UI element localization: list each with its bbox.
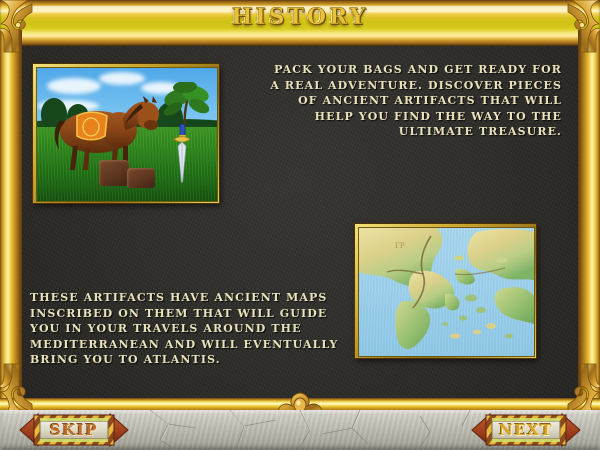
artifacts-paragraph: THESE ARTIFACTS HAVE ANCIENT MAPS INSCRI… bbox=[30, 290, 330, 368]
intro-line: ULTIMATE TREASURE. bbox=[250, 124, 562, 140]
aegean-map-illustration: ΓΡ bbox=[355, 224, 536, 358]
intro-line: PACK YOUR BAGS AND GET READY FOR bbox=[250, 62, 562, 78]
svg-text:ΓΡ: ΓΡ bbox=[395, 242, 405, 250]
artifacts-line: BRING YOU TO ATLANTIS. bbox=[30, 352, 330, 368]
next-button[interactable]: NEXT bbox=[470, 410, 582, 450]
intro-paragraph: PACK YOUR BAGS AND GET READY FOR A REAL … bbox=[250, 62, 562, 140]
map-scene: ΓΡ bbox=[358, 227, 535, 357]
horse-pasture-illustration bbox=[33, 64, 219, 203]
artifact-rock bbox=[127, 168, 155, 188]
artifacts-line: INSCRIBED ON THEM THAT WILL GUIDE bbox=[30, 306, 330, 322]
intro-line: A REAL ADVENTURE. DISCOVER PIECES bbox=[250, 78, 562, 94]
artifact-rock bbox=[99, 160, 129, 186]
cloud bbox=[99, 72, 145, 85]
page-title: HISTORY bbox=[0, 4, 600, 30]
map-landmasses: ΓΡ bbox=[359, 228, 534, 356]
intro-line: OF ANCIENT ARTIFACTS THAT WILL bbox=[250, 93, 562, 109]
right-gold-border bbox=[578, 30, 600, 415]
history-screen: HISTORY bbox=[0, 0, 600, 450]
cloud bbox=[47, 78, 101, 94]
horse-scene bbox=[36, 67, 218, 202]
sword bbox=[173, 122, 191, 184]
intro-line: HELP YOU FIND THE WAY TO THE bbox=[250, 109, 562, 125]
artifacts-line: MEDITERRANEAN AND WILL EVENTUALLY bbox=[30, 337, 330, 353]
left-gold-border bbox=[0, 30, 22, 415]
skip-button[interactable]: SKIP bbox=[18, 410, 130, 450]
artifacts-line: THESE ARTIFACTS HAVE ANCIENT MAPS bbox=[30, 290, 330, 306]
artifacts-line: YOU IN YOUR TRAVELS AROUND THE bbox=[30, 321, 330, 337]
